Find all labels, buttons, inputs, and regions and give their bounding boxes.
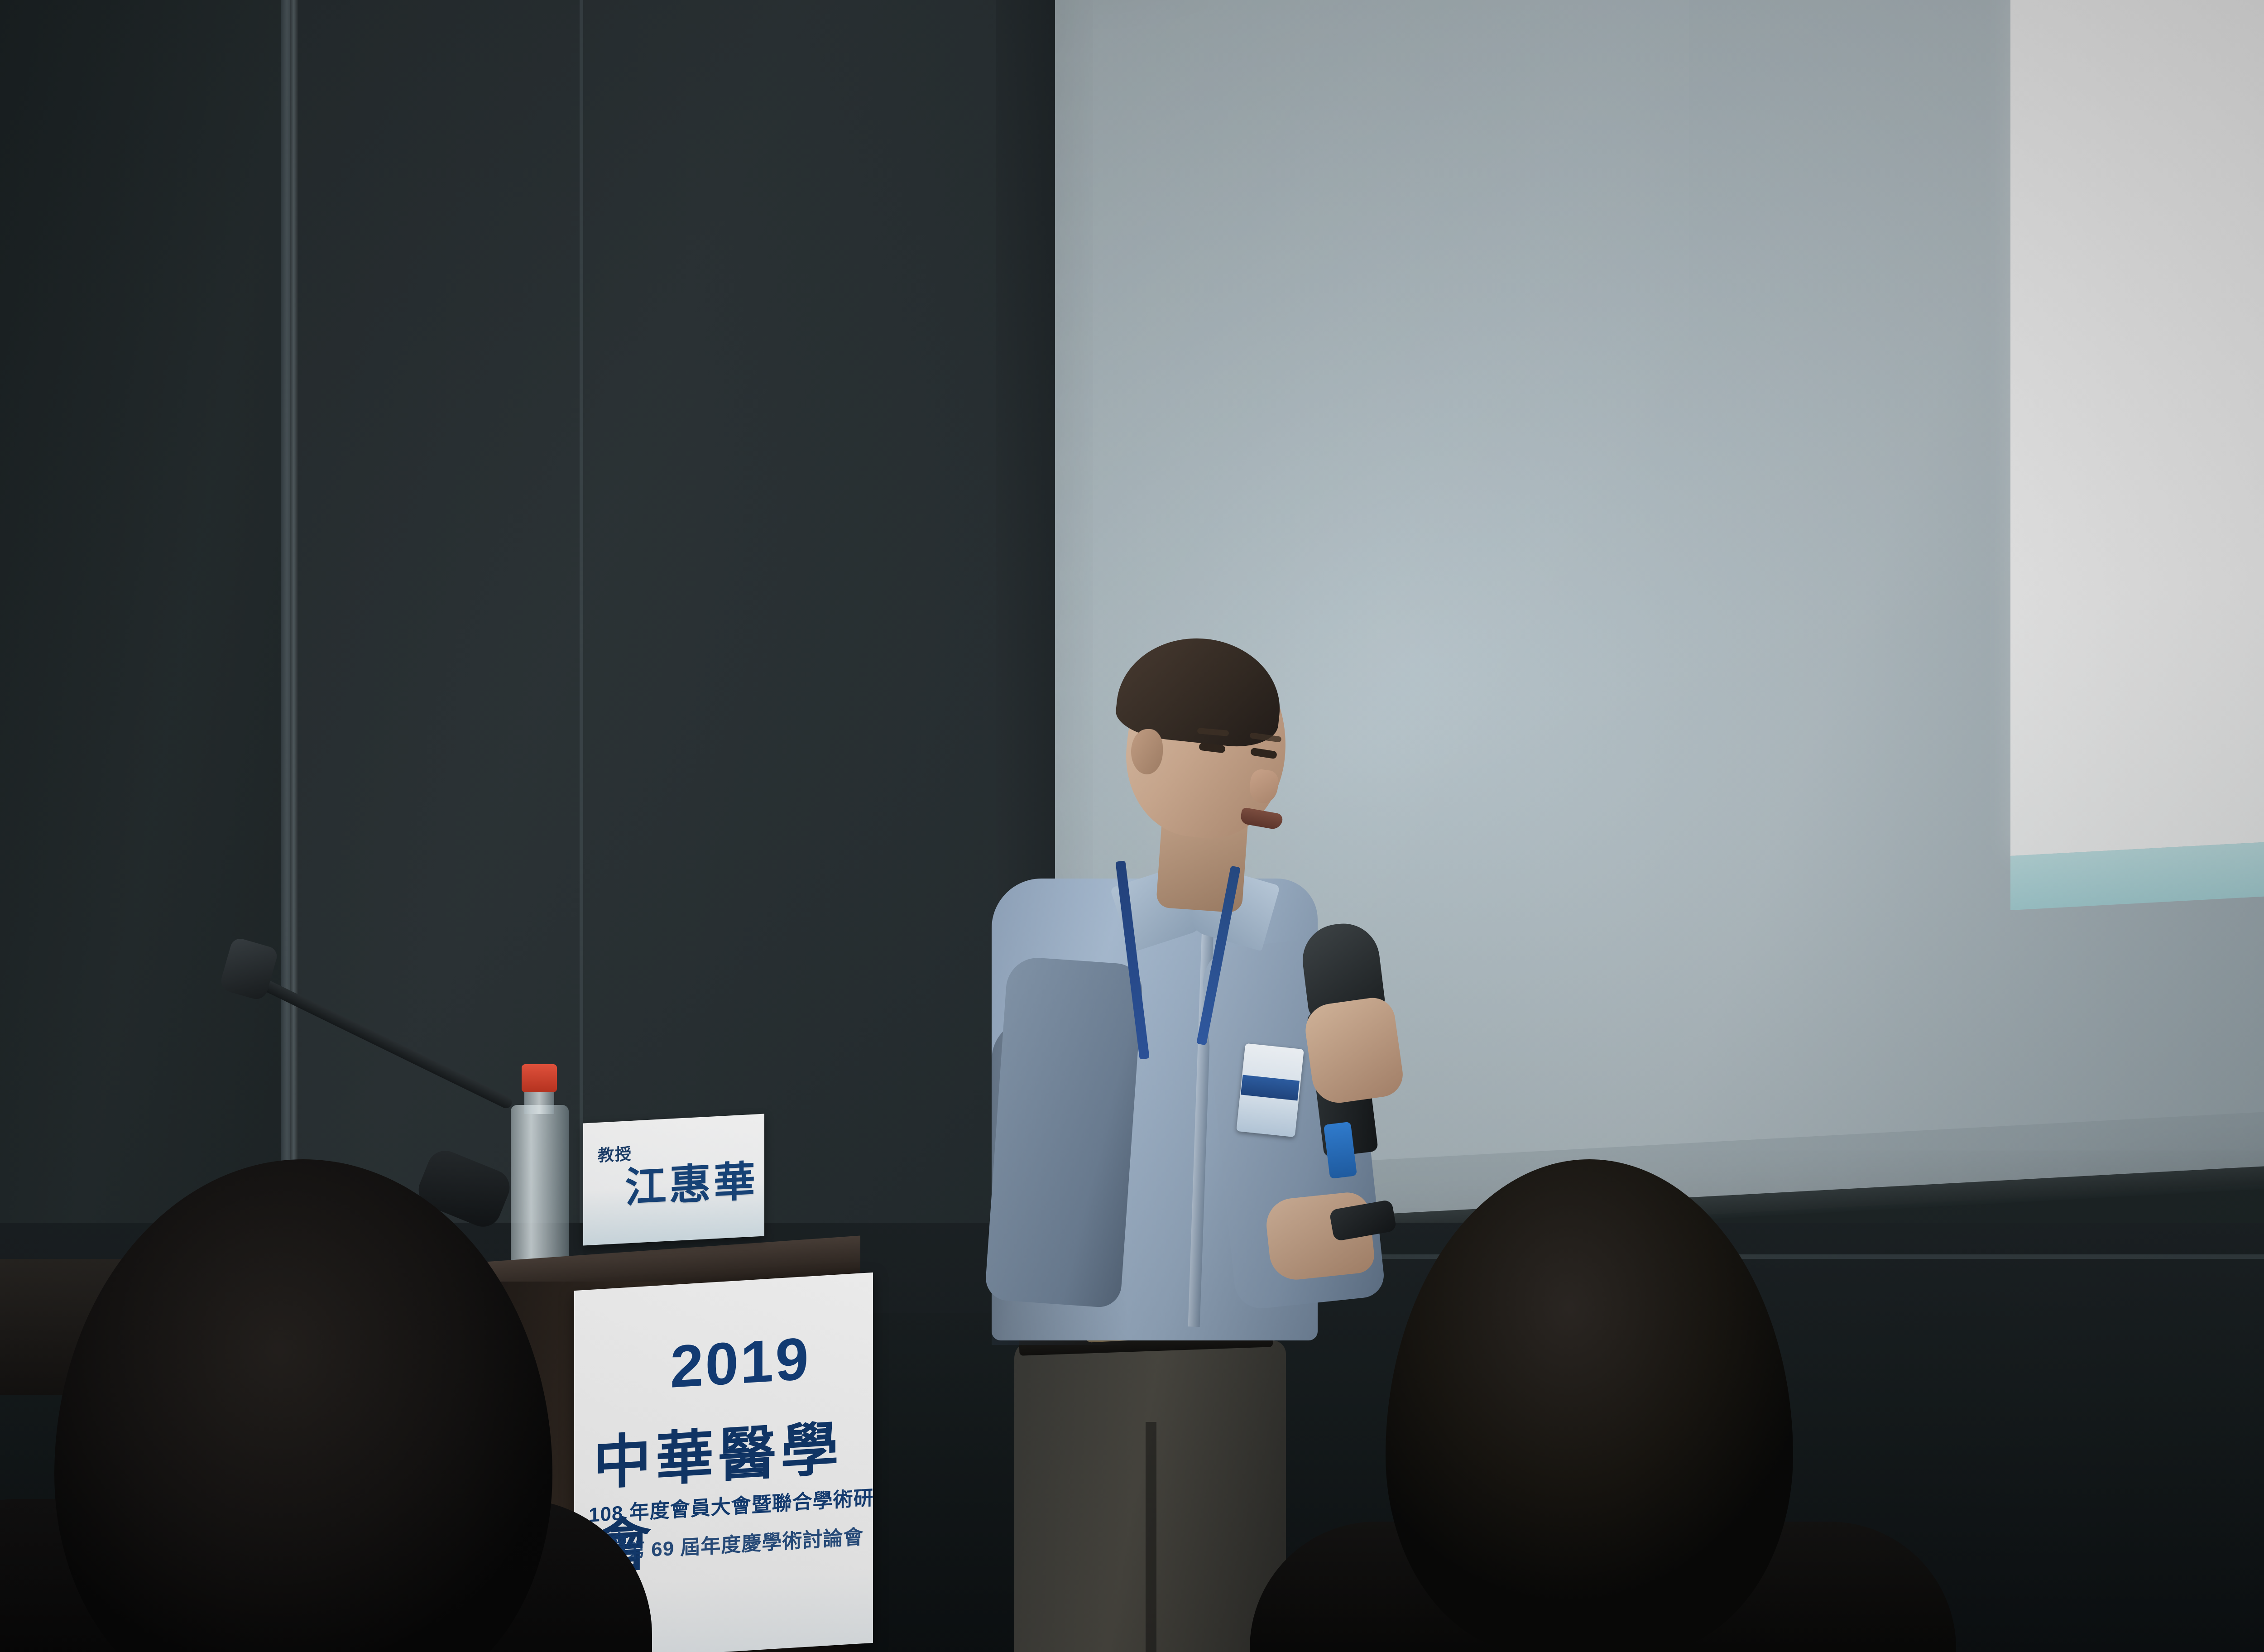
nameplate-speaker-name: 江惠華	[625, 1160, 761, 1209]
speaker-ear	[1131, 729, 1163, 774]
speaker-hand-holding-microphone	[1302, 995, 1406, 1106]
water-bottle-cap	[522, 1064, 557, 1092]
wall-seam	[580, 0, 583, 1313]
slide-white-panel	[2010, 0, 2264, 856]
event-sign-year: 2019	[670, 1321, 860, 1401]
water-bottle-body	[511, 1105, 569, 1273]
speaker-left-arm	[984, 956, 1144, 1308]
wall-pole	[290, 0, 298, 1232]
wall-mid-panel	[294, 0, 1060, 1313]
wall-left-panel	[0, 0, 308, 1304]
photo-scene: 教授 江惠華 2019 中華醫學會 108 年度會員大會暨聯合學術研討會 第 6…	[0, 0, 2264, 1652]
speaker-trouser-seam	[1146, 1422, 1156, 1652]
nameplate-title-label: 教授	[598, 1140, 652, 1166]
